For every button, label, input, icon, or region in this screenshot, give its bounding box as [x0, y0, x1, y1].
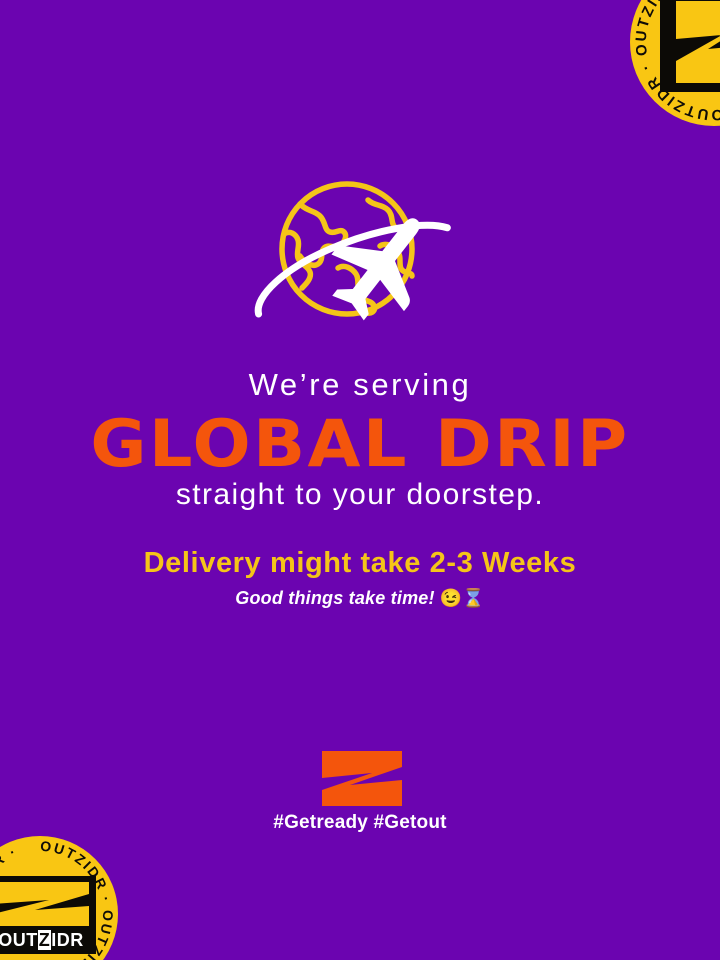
headline-eyebrow: We’re serving [0, 369, 720, 400]
page-title: GLOBAL DRIP [0, 409, 720, 480]
badge-wordmark-prefix: OUT [0, 931, 38, 949]
reassurance-text: Good things take time! [235, 588, 434, 608]
outzidr-sticker-bottom-left: OUTZIDR · OUTZIDR · OUTZIDR · OUTZIDR · … [0, 836, 118, 960]
footer-hashtags: #Getready #Getout [0, 813, 720, 832]
delivery-notice: Delivery might take 2-3 Weeks [0, 549, 720, 578]
badge-z-icon [668, 0, 720, 85]
badge-wordmark: OUT Z IDR [0, 930, 84, 950]
badge-z-icon [0, 880, 93, 928]
globe-plane-illustration [240, 172, 480, 340]
poster-canvas: OUTZIDR · OUTZIDR · OUTZIDR · OUTZIDR · … [0, 0, 720, 960]
badge-wordmark-z: Z [38, 930, 52, 950]
headline-subtitle: straight to your doorstep. [0, 480, 720, 510]
outzidr-sticker-top-right: OUTZIDR · OUTZIDR · OUTZIDR · OUTZIDR · [630, 0, 720, 126]
badge-core-top-right [660, 0, 720, 92]
wink-hourglass-emoji: 😉⌛ [440, 588, 485, 608]
reassurance-note: Good things take time! 😉⌛ [0, 589, 720, 607]
badge-wordmark-suffix: IDR [51, 931, 84, 949]
outzidr-z-mark [322, 751, 402, 806]
badge-core-bottom-left: OUT Z IDR [0, 876, 96, 954]
